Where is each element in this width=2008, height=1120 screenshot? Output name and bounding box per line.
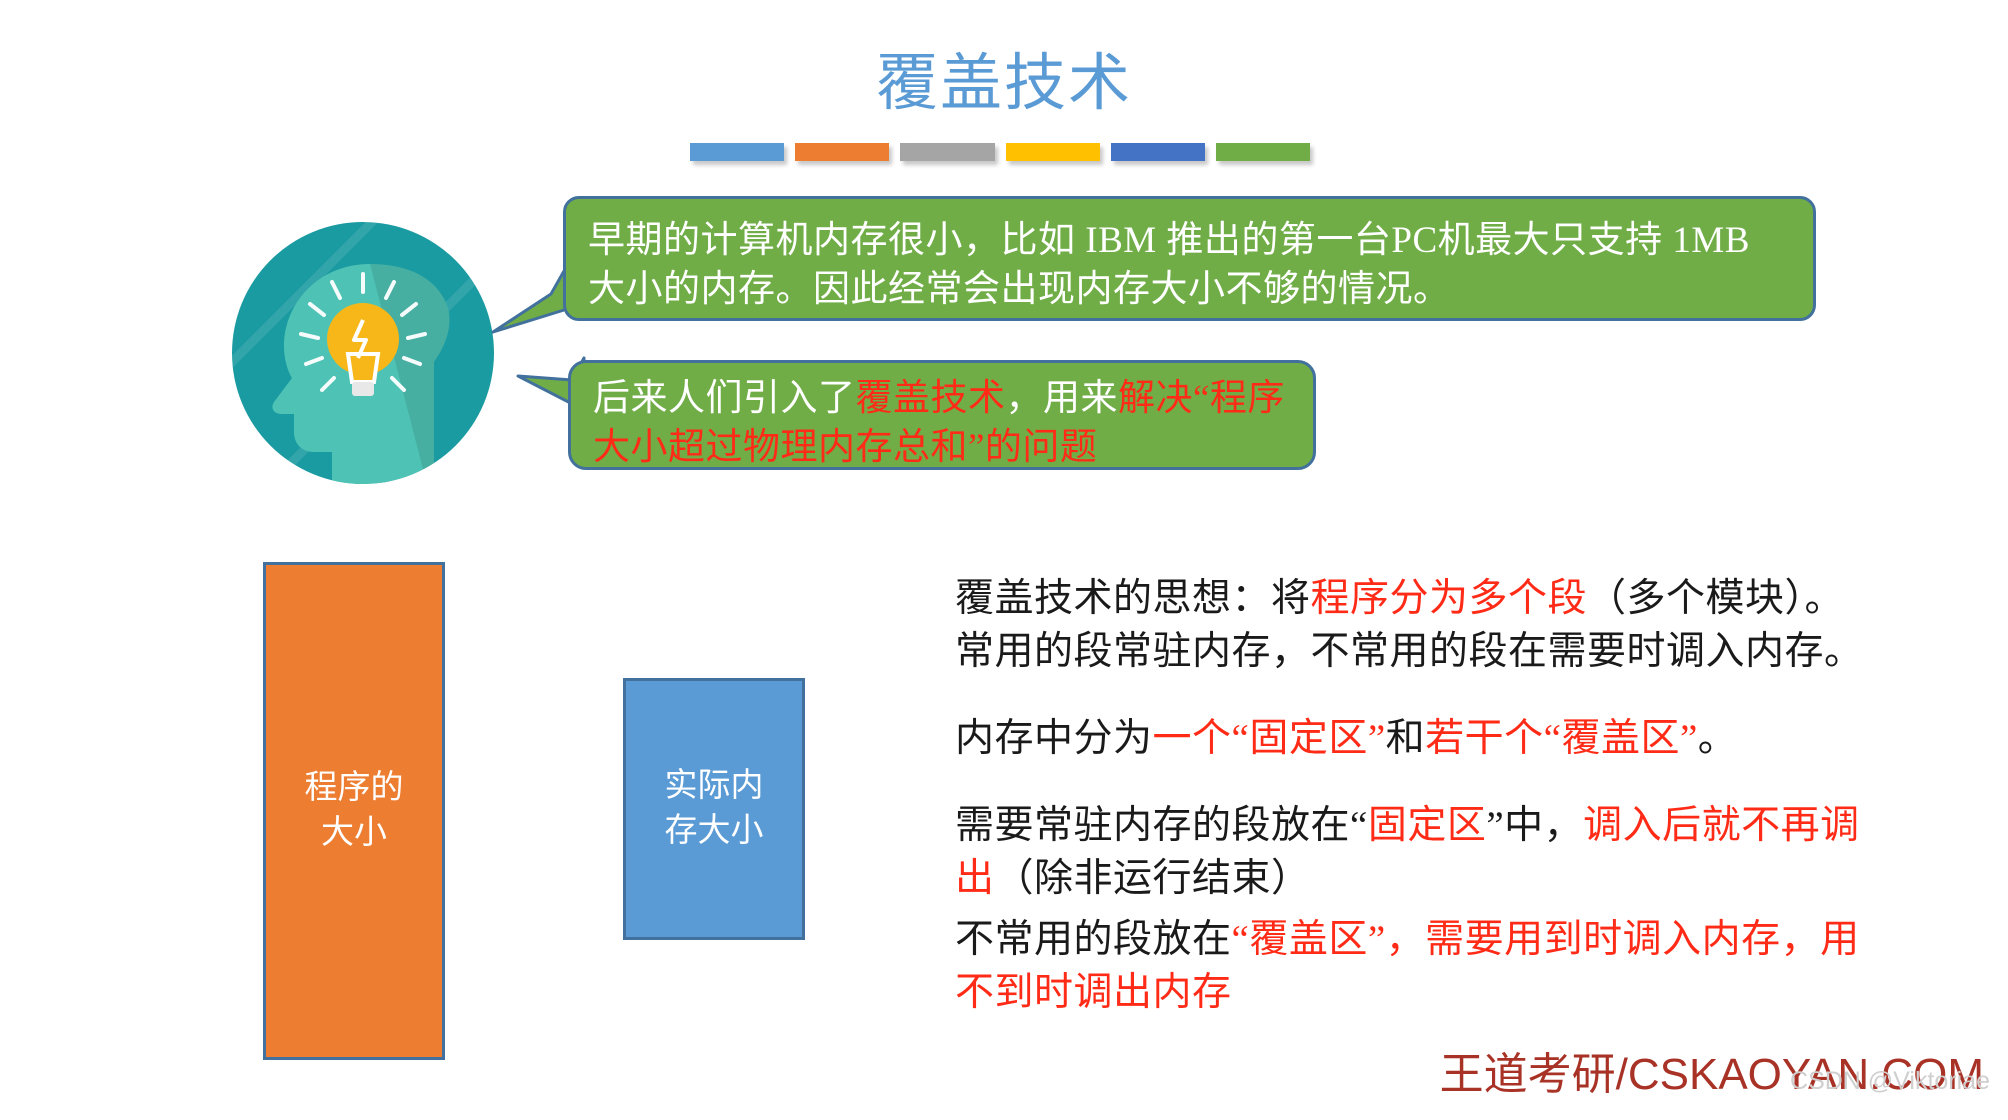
bubble-overlay-intro-text: 后来人们引入了覆盖技术，用来解决“程序大小超过物理内存总和”的问题 (593, 375, 1293, 473)
partition-seg-3: 和 (1386, 717, 1426, 760)
block-actual-memory-line2: 存大小 (665, 809, 764, 854)
title-bar-navy (1111, 143, 1205, 161)
fixed-seg-2: 固定区 (1368, 804, 1487, 847)
idea-seg-2: 程序分为多个段 (1311, 577, 1588, 620)
fixed-seg-5: （除非运行结束） (995, 857, 1311, 900)
bubble2-seg-2: 覆盖技术 (856, 378, 1006, 419)
bubble2-seg-3: ，用来 (1006, 378, 1119, 419)
paragraph-idea-line2: 常用的段常驻内存，不常用的段在需要时调入内存。 (955, 625, 1885, 678)
page-title: 覆盖技术 (0, 52, 2008, 117)
csdn-watermark: CSDN @Viktoriae (1790, 1067, 1990, 1096)
partition-seg-4: 若干个“覆盖区” (1425, 717, 1698, 760)
block-program-size-line2: 大小 (305, 811, 404, 856)
fixed-seg-3: ”中， (1486, 804, 1583, 847)
paragraph-idea-line1: 覆盖技术的思想：将程序分为多个段（多个模块）。 (955, 572, 1885, 625)
partition-seg-2: 一个“固定区” (1153, 717, 1386, 760)
title-bar-blue (690, 143, 784, 161)
idea-seg-1: 覆盖技术的思想：将 (955, 577, 1311, 620)
title-bar-orange (795, 143, 889, 161)
paragraph-idea: 覆盖技术的思想：将程序分为多个段（多个模块）。 常用的段常驻内存，不常用的段在需… (955, 572, 1885, 678)
title-bar-yellow (1006, 143, 1100, 161)
partition-seg-1: 内存中分为 (955, 717, 1153, 760)
block-actual-memory-line1: 实际内 (665, 764, 764, 809)
title-bar-gray (900, 143, 994, 161)
paragraph-fixed-area: 需要常驻内存的段放在“固定区”中，调入后就不再调出（除非运行结束） (955, 799, 1885, 905)
idea-seg-3: （多个模块）。 (1587, 577, 1844, 620)
block-program-size: 程序的 大小 (263, 562, 445, 1060)
body-text-column: 覆盖技术的思想：将程序分为多个段（多个模块）。 常用的段常驻内存，不常用的段在需… (955, 572, 1885, 1019)
slide-root: 覆盖技术 (0, 0, 2008, 1120)
fixed-seg-1: 需要常驻内存的段放在“ (955, 804, 1368, 847)
paragraph-partition: 内存中分为一个“固定区”和若干个“覆盖区”。 (955, 712, 1885, 765)
partition-seg-5: 。 (1698, 717, 1738, 760)
overlay-seg-1: 不常用的段放在 (955, 918, 1232, 961)
paragraph-overlay-area: 不常用的段放在“覆盖区”，需要用到时调入内存，用不到时调出内存 (955, 913, 1885, 1019)
block-actual-memory-label: 实际内 存大小 (665, 764, 764, 853)
bubble-history: 早期的计算机内存很小，比如 IBM 推出的第一台PC机最大只支持 1MB 大小的… (563, 196, 1816, 321)
bubble-overlay-intro: 后来人们引入了覆盖技术，用来解决“程序大小超过物理内存总和”的问题 (568, 360, 1316, 470)
bubble2-seg-1: 后来人们引入了 (593, 378, 856, 419)
block-program-size-label: 程序的 大小 (305, 766, 404, 855)
bubble-history-text: 早期的计算机内存很小，比如 IBM 推出的第一台PC机最大只支持 1MB 大小的… (588, 217, 1791, 315)
title-underline-bars (690, 143, 1310, 161)
title-bar-green (1216, 143, 1310, 161)
block-program-size-line1: 程序的 (305, 766, 404, 811)
block-actual-memory: 实际内 存大小 (623, 678, 805, 940)
head-with-lightbulb-icon (222, 212, 504, 494)
